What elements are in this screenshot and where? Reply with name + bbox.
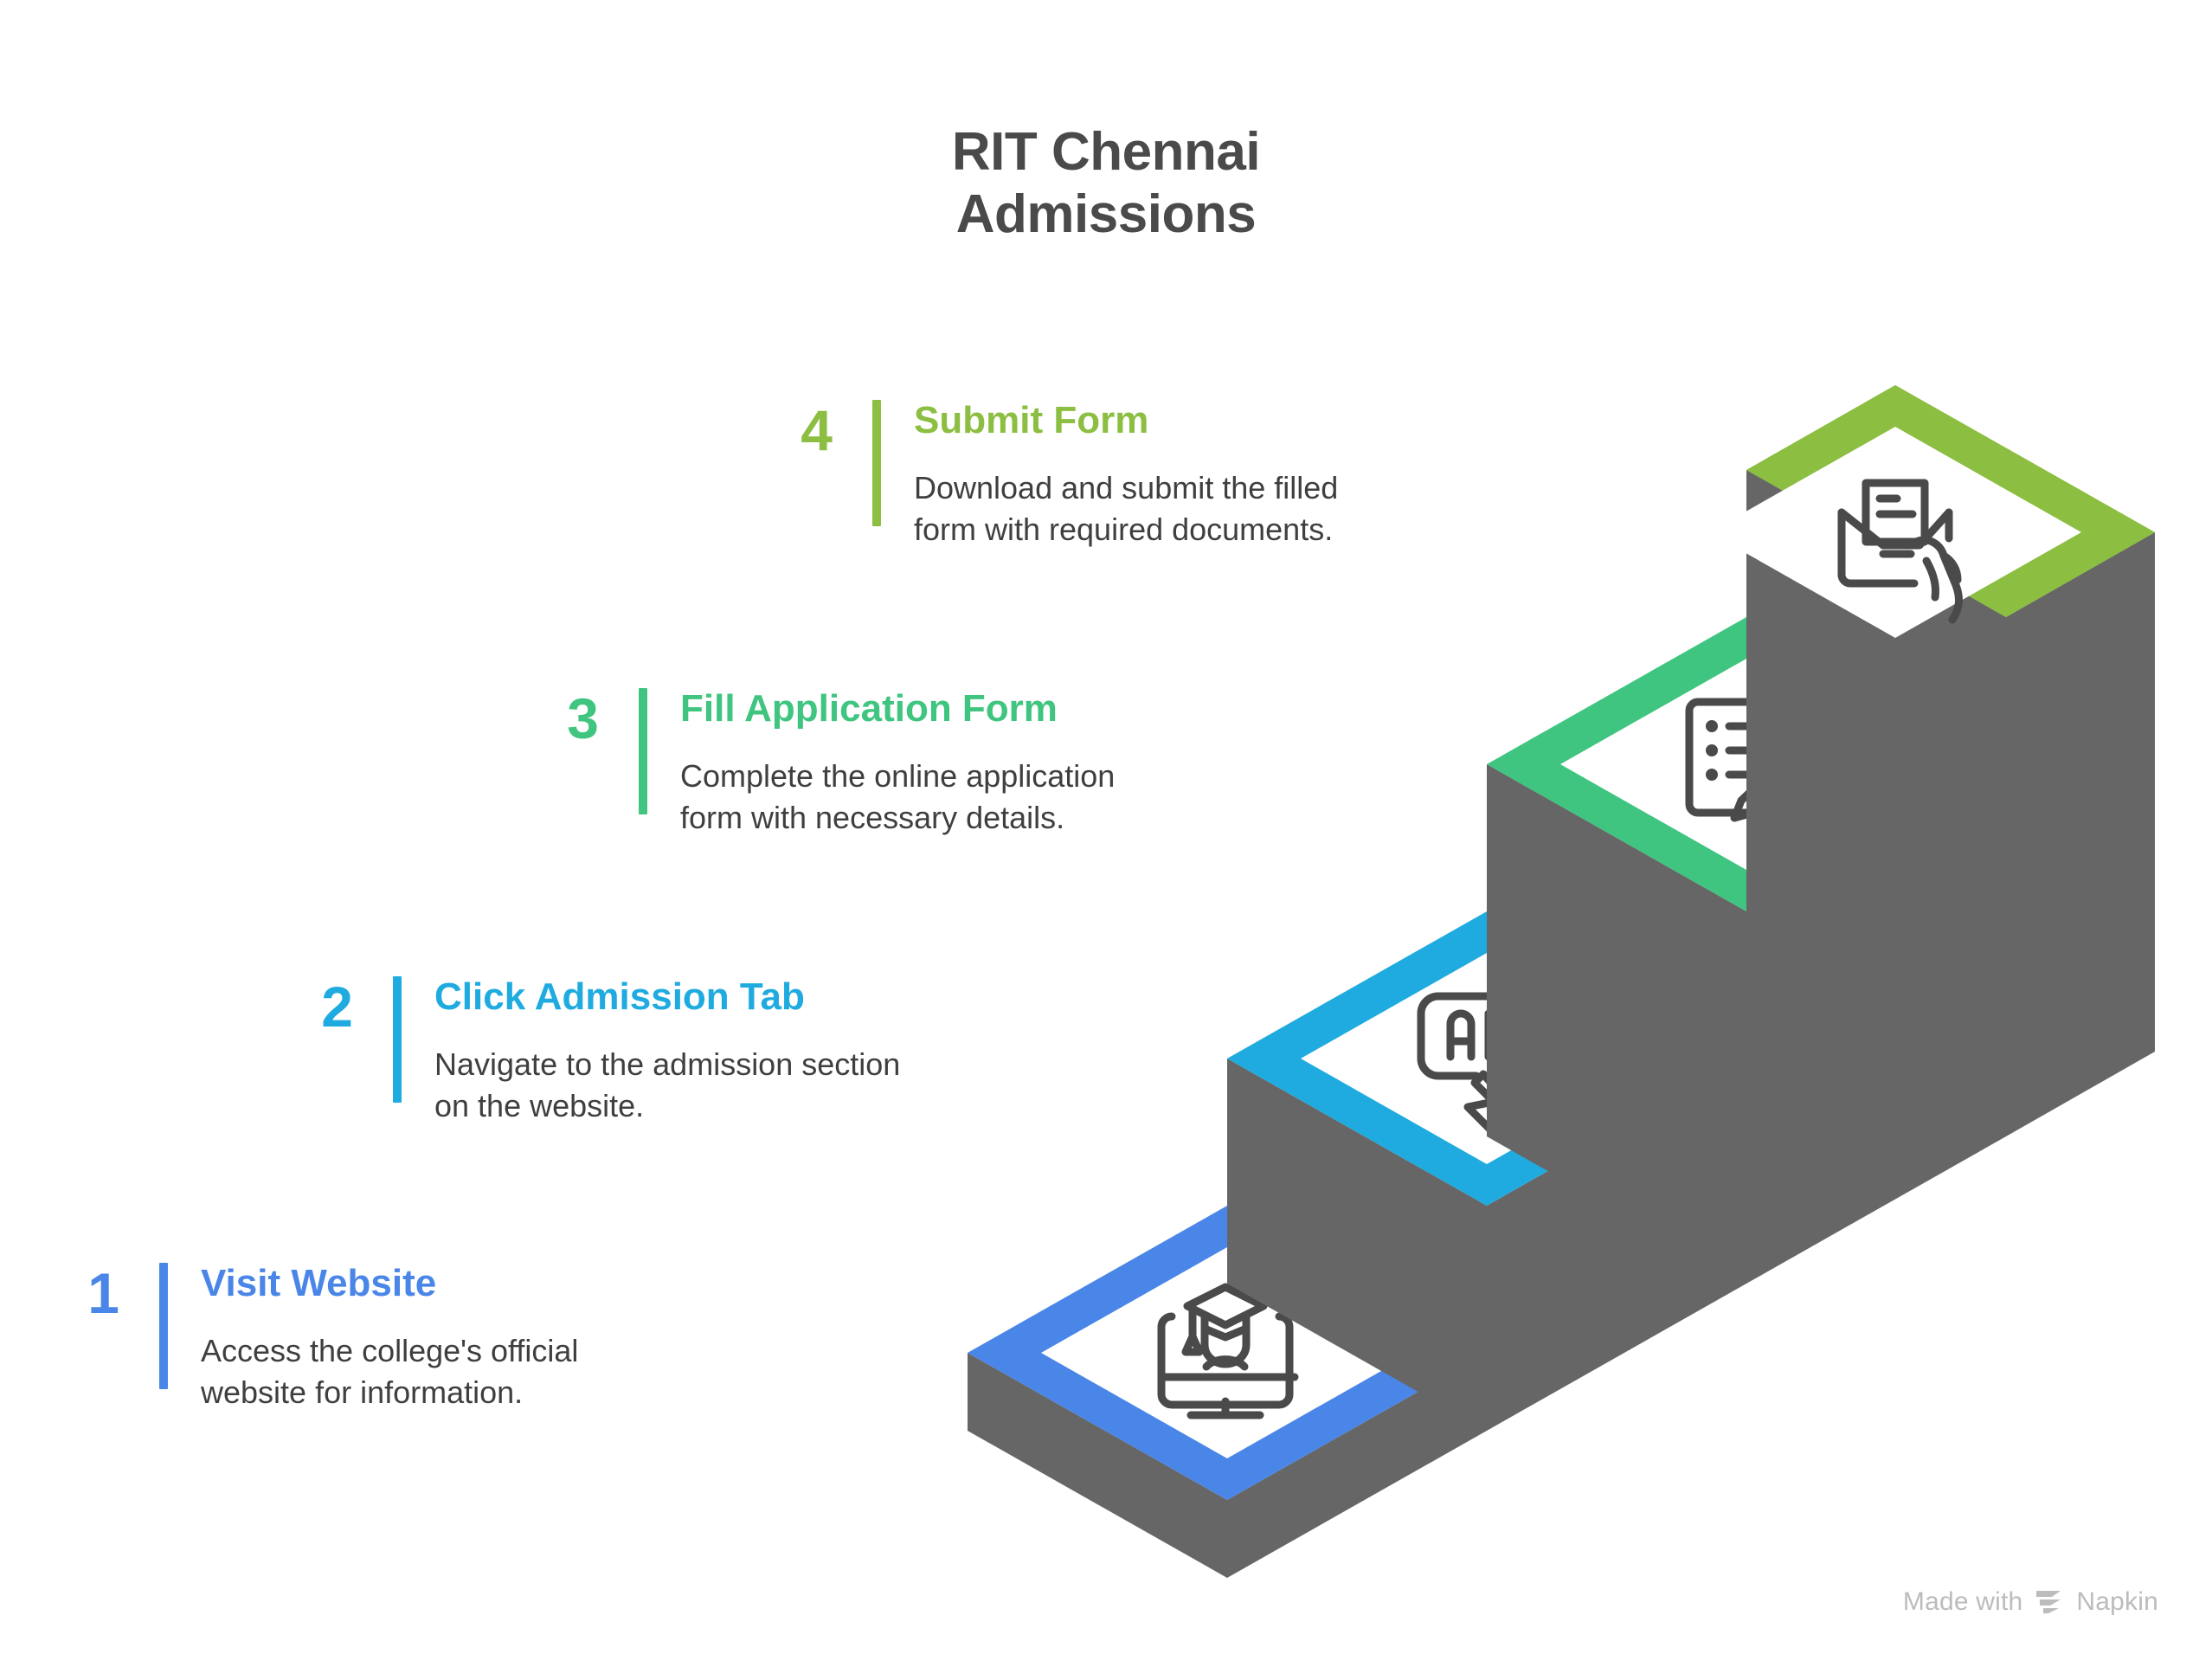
- step-4-accent-bar: [872, 400, 881, 526]
- step-2-accent-bar: [393, 976, 402, 1103]
- step-2-text-block[interactable]: 2 Click Admission Tab Navigate to the ad…: [275, 976, 900, 1127]
- step-1-number: 1: [42, 1263, 119, 1322]
- step-2-number: 2: [275, 976, 353, 1035]
- step-2-description: Navigate to the admission section on the…: [434, 1044, 900, 1127]
- step-1-text-block[interactable]: 1 Visit Website Access the college's off…: [42, 1263, 578, 1413]
- step-4-number: 4: [755, 400, 833, 459]
- napkin-watermark: Made with Napkin: [1903, 1587, 2158, 1617]
- step-4-title: Submit Form: [914, 400, 1338, 441]
- step-3-number: 3: [521, 688, 599, 747]
- napkin-logo-icon: [2035, 1589, 2064, 1615]
- step-3-accent-bar: [639, 688, 647, 814]
- step-1-description: Access the college's official website fo…: [201, 1330, 578, 1413]
- step-1-accent-bar: [159, 1263, 168, 1389]
- step-4-description: Download and submit the filled form with…: [914, 467, 1338, 550]
- step-4-riser-right: [2006, 532, 2155, 1136]
- step-1-title: Visit Website: [201, 1263, 578, 1304]
- step-3-title: Fill Application Form: [680, 688, 1115, 730]
- step-4-text-block[interactable]: 4 Submit Form Download and submit the fi…: [755, 400, 1338, 550]
- step-2-title: Click Admission Tab: [434, 976, 900, 1018]
- watermark-brand: Napkin: [2076, 1587, 2158, 1617]
- step-3-text-block[interactable]: 3 Fill Application Form Complete the onl…: [521, 688, 1115, 839]
- step-3-description: Complete the online application form wit…: [680, 756, 1115, 839]
- watermark-prefix: Made with: [1903, 1587, 2023, 1617]
